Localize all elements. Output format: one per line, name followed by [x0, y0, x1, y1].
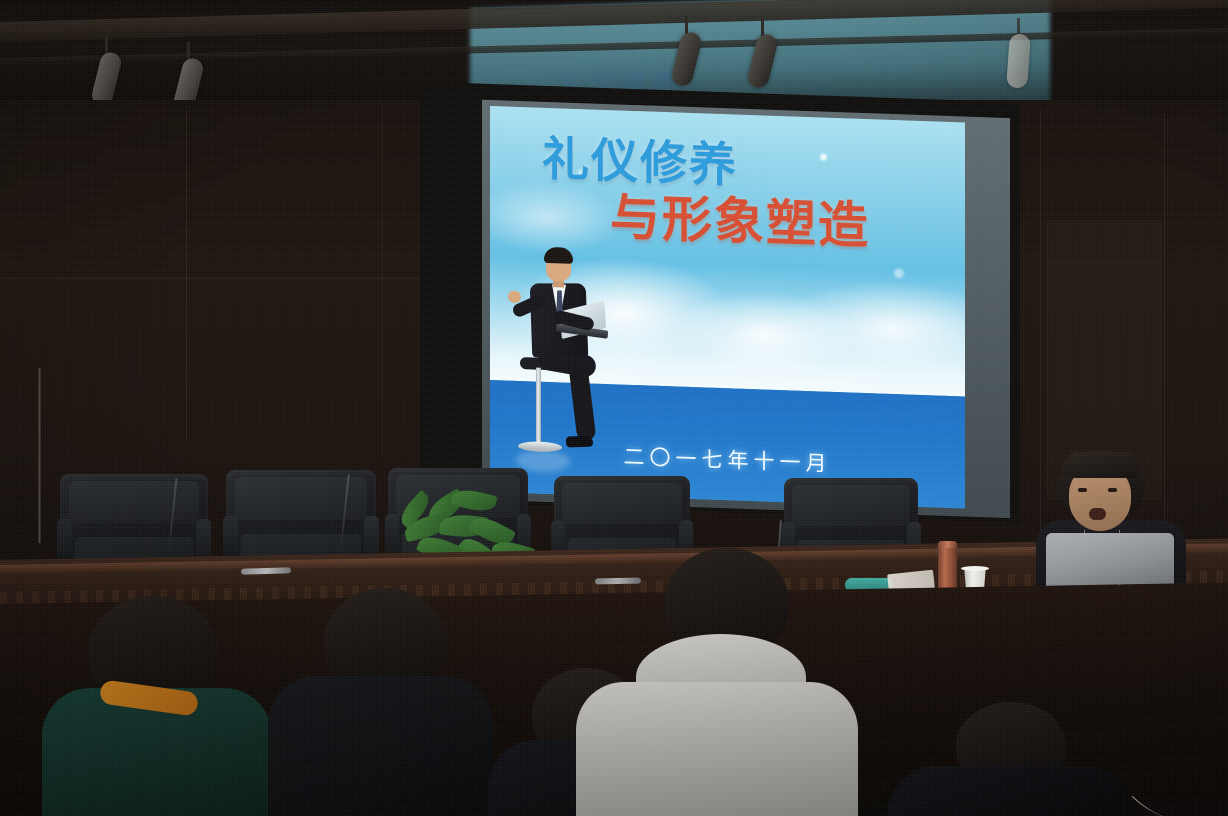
apple-logo-icon	[1100, 553, 1120, 575]
paper-cup-rim	[961, 566, 989, 571]
lecture-hall-photo: 礼仪修养 与形象塑造	[0, 0, 1228, 816]
presentation-slide: 礼仪修养 与形象塑造 二〇一七年十一月	[490, 106, 965, 509]
audience-member-5	[888, 702, 1128, 816]
audience-member-1	[42, 596, 262, 816]
audience-member-4	[562, 548, 862, 816]
thermos-bottle	[938, 545, 957, 593]
mic-stand-pole	[38, 368, 41, 543]
thermos-cap	[938, 541, 957, 548]
projection-screen: 礼仪修养 与形象塑造 二〇一七年十一月	[420, 82, 1020, 523]
audience-member-2	[268, 588, 483, 816]
